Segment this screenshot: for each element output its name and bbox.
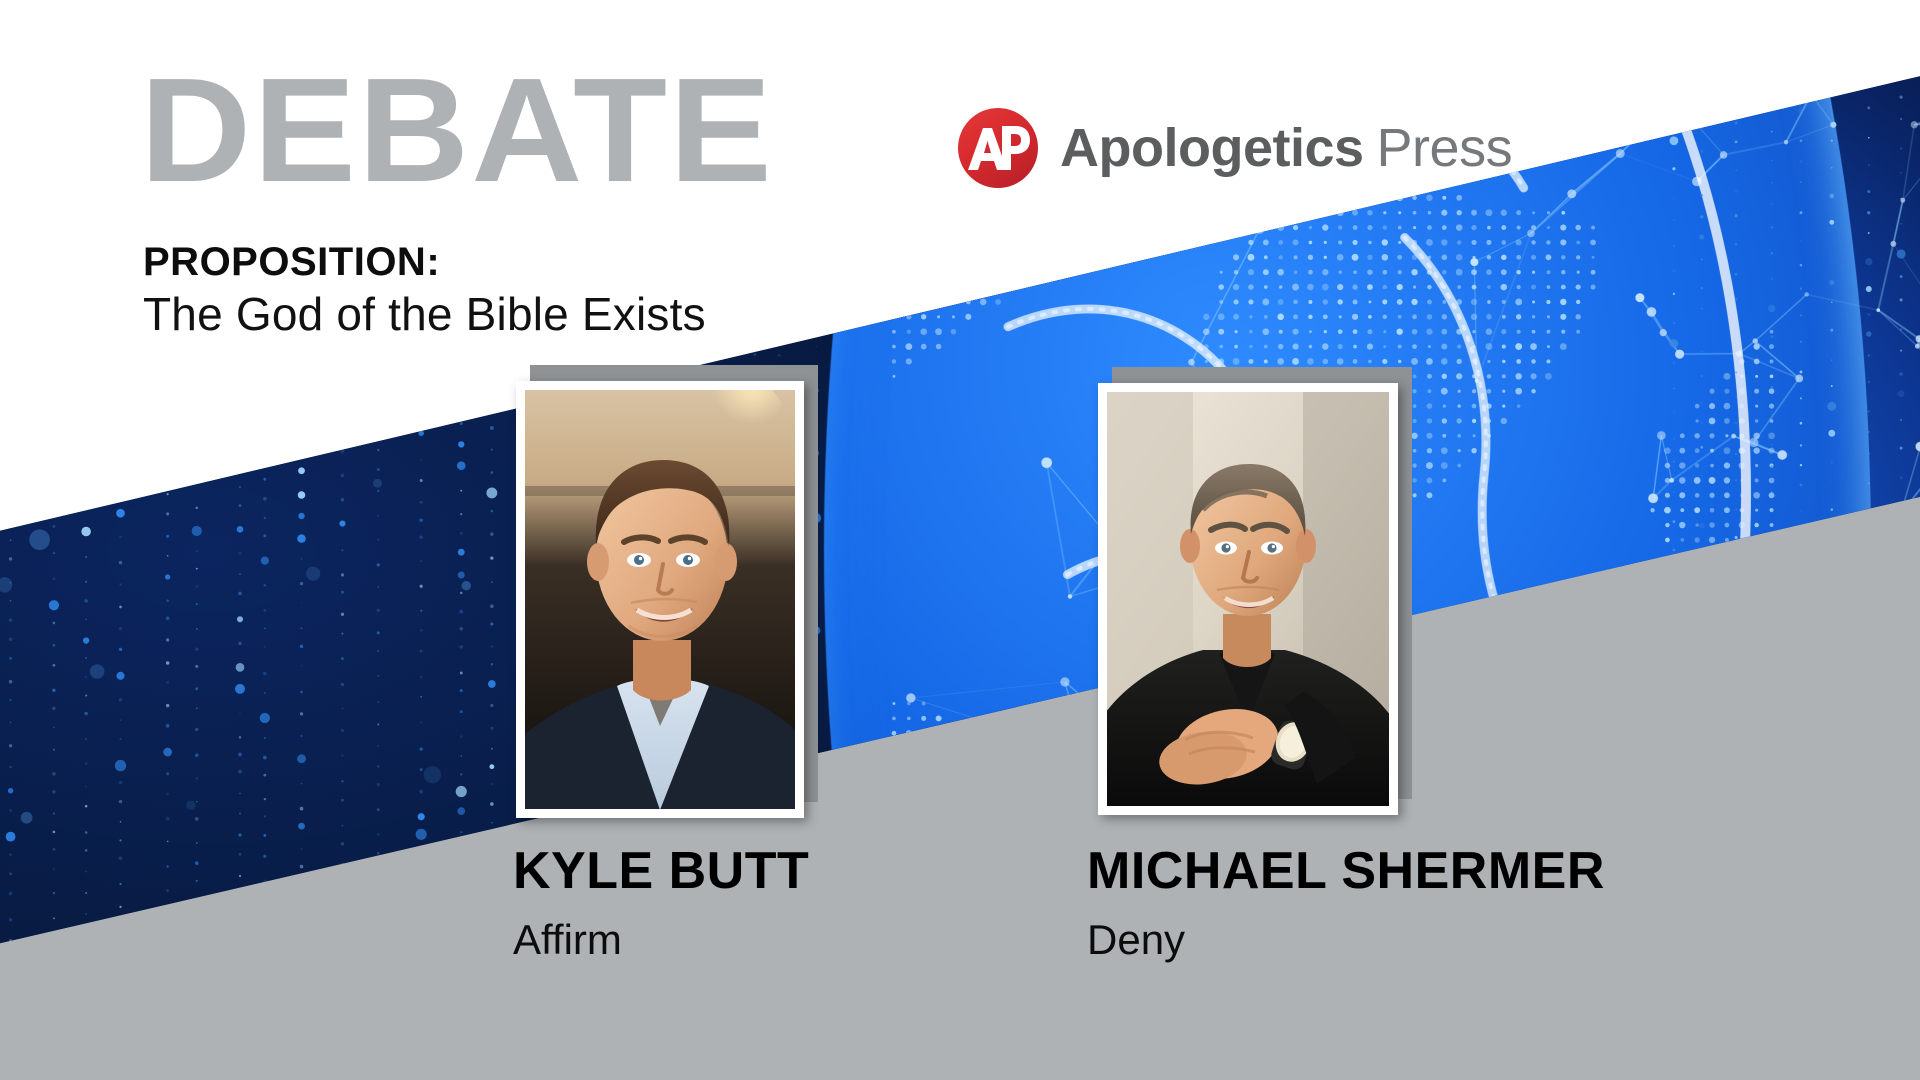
proposition-label: PROPOSITION: <box>143 242 440 282</box>
proposition-statement: The God of the Bible Exists <box>143 288 706 341</box>
portrait-photo-michael-shermer <box>1107 392 1389 806</box>
photo-kyle-butt-illustration <box>525 390 795 809</box>
speaker-caption-michael-shermer: MICHAEL SHERMER Deny <box>1087 845 1605 961</box>
debate-poster: DEBATE PROPOSITION: The God of the Bible… <box>0 0 1920 1080</box>
speaker-caption-kyle-butt: KYLE BUTT Affirm <box>513 845 809 961</box>
portrait-kyle-butt <box>516 381 804 818</box>
speaker-role: Deny <box>1087 919 1605 961</box>
photo-michael-shermer-illustration <box>1107 392 1389 806</box>
speaker-role: Affirm <box>513 919 809 961</box>
logo-word-apologetics: Apologetics <box>1060 117 1364 179</box>
apologetics-press-logo[interactable]: Apologetics Press <box>958 108 1512 188</box>
speaker-name: KYLE BUTT <box>513 845 809 897</box>
portrait-photo-kyle-butt <box>525 390 795 809</box>
logo-word-press: Press <box>1377 117 1513 179</box>
portrait-michael-shermer <box>1098 383 1398 815</box>
page-title: DEBATE <box>140 57 774 205</box>
ap-monogram-icon <box>958 108 1038 188</box>
portrait-frame <box>1098 383 1398 815</box>
ap-letters-icon <box>958 108 1038 188</box>
portrait-frame <box>516 381 804 818</box>
speaker-name: MICHAEL SHERMER <box>1087 845 1605 897</box>
